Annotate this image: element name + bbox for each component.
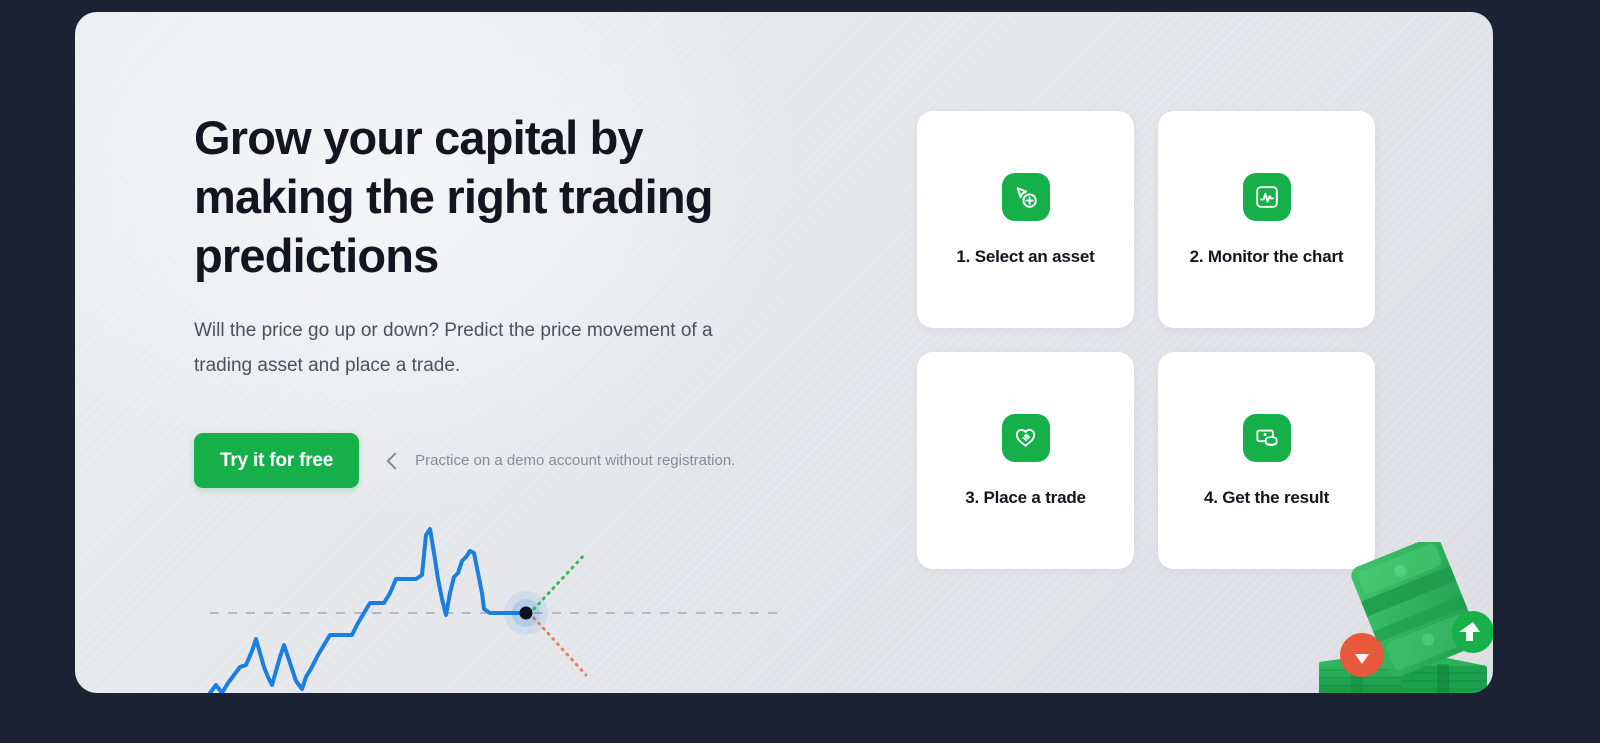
steps-grid: 1. Select an asset 2. Monitor the chart	[917, 111, 1375, 569]
step-card-3[interactable]: 3. Place a trade	[917, 352, 1134, 569]
money-card-coins-icon	[1243, 414, 1291, 462]
step-card-4-label: 4. Get the result	[1204, 488, 1329, 508]
cursor-plus-icon	[1002, 173, 1050, 221]
hero-subtitle: Will the price go up or down? Predict th…	[194, 313, 774, 383]
current-point-dot	[520, 607, 533, 620]
hero-content: Grow your capital by making the right tr…	[194, 108, 814, 488]
arrow-down-badge-icon	[1340, 633, 1384, 677]
try-it-for-free-button[interactable]: Try it for free	[194, 433, 359, 488]
cta-note: Practice on a demo account without regis…	[389, 452, 735, 469]
ground-shadow	[1323, 687, 1487, 693]
handshake-icon	[1002, 414, 1050, 462]
step-card-2-label: 2. Monitor the chart	[1190, 247, 1344, 267]
step-card-4[interactable]: 4. Get the result	[1158, 352, 1375, 569]
chart-frame-icon	[1243, 173, 1291, 221]
banknote-stack-bottom	[1319, 650, 1487, 693]
arrow-up-badge-icon	[1452, 611, 1493, 653]
cta-row: Try it for free Practice on a demo accou…	[194, 433, 814, 488]
step-card-1-label: 1. Select an asset	[956, 247, 1094, 267]
step-card-1[interactable]: 1. Select an asset	[917, 111, 1134, 328]
step-card-3-label: 3. Place a trade	[965, 488, 1086, 508]
page-title: Grow your capital by making the right tr…	[194, 108, 814, 285]
chevron-left-icon	[387, 452, 404, 469]
price-line	[198, 529, 526, 693]
cta-note-label: Practice on a demo account without regis…	[415, 452, 735, 469]
price-chart-illustration	[194, 517, 894, 693]
hero-panel: Grow your capital by making the right tr…	[75, 12, 1493, 693]
step-card-2[interactable]: 2. Monitor the chart	[1158, 111, 1375, 328]
